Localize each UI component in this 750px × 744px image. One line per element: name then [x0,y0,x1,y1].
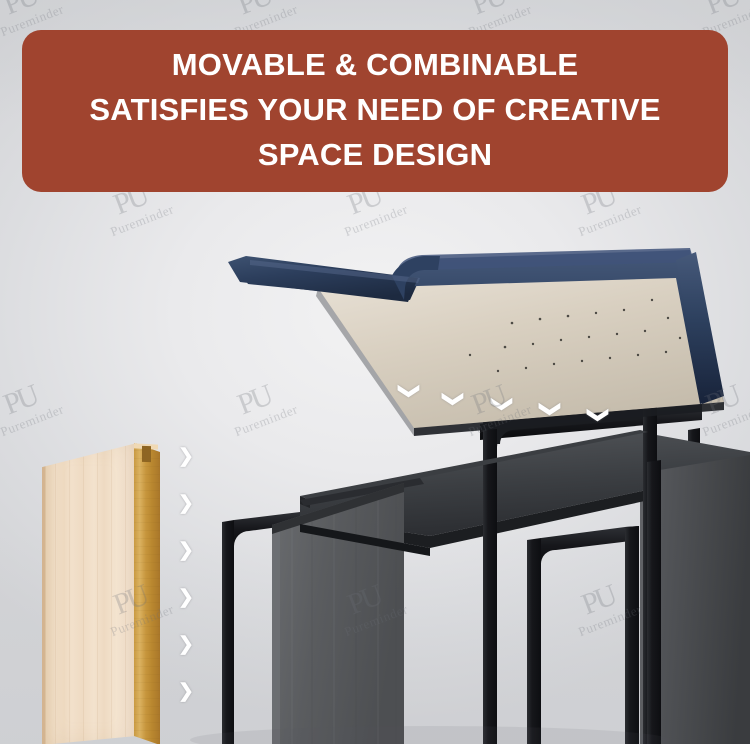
chevron-down-icon: ❯ [446,390,460,408]
headline-banner: MOVABLE & COMBINABLE SATISFIES YOUR NEED… [22,30,728,192]
chevron-down-icon: ❯ [402,382,416,400]
banner-line-1: MOVABLE & COMBINABLE [172,42,578,87]
chevron-right-icon: ❯ [178,683,196,700]
chevron-down-icon: ❯ [495,395,509,413]
chevron-right-icon: ❯ [178,495,196,512]
banner-line-2: SATISFIES YOUR NEED OF CREATIVE [89,87,660,132]
chevron-right-icon: ❯ [178,589,196,606]
wood-panel-edge [134,443,160,744]
assembly-arrows-right: ❯ ❯ ❯ ❯ ❯ ❯ [178,448,196,700]
chevron-down-icon: ❯ [591,406,605,424]
chevron-right-icon: ❯ [178,636,196,653]
chevron-right-icon: ❯ [178,448,196,465]
chevron-down-icon: ❯ [543,400,557,418]
wood-panel-face [42,443,137,744]
chevron-right-icon: ❯ [178,542,196,559]
wood-wall-panel [42,443,160,744]
product-banner-image: ❯ ❯ ❯ ❯ ❯ ❯ ❯ ❯ ❯ ❯ ❯ PUPureminderPUPure… [0,0,750,744]
banner-line-3: SPACE DESIGN [258,132,492,177]
wood-panel-notch [142,446,151,462]
